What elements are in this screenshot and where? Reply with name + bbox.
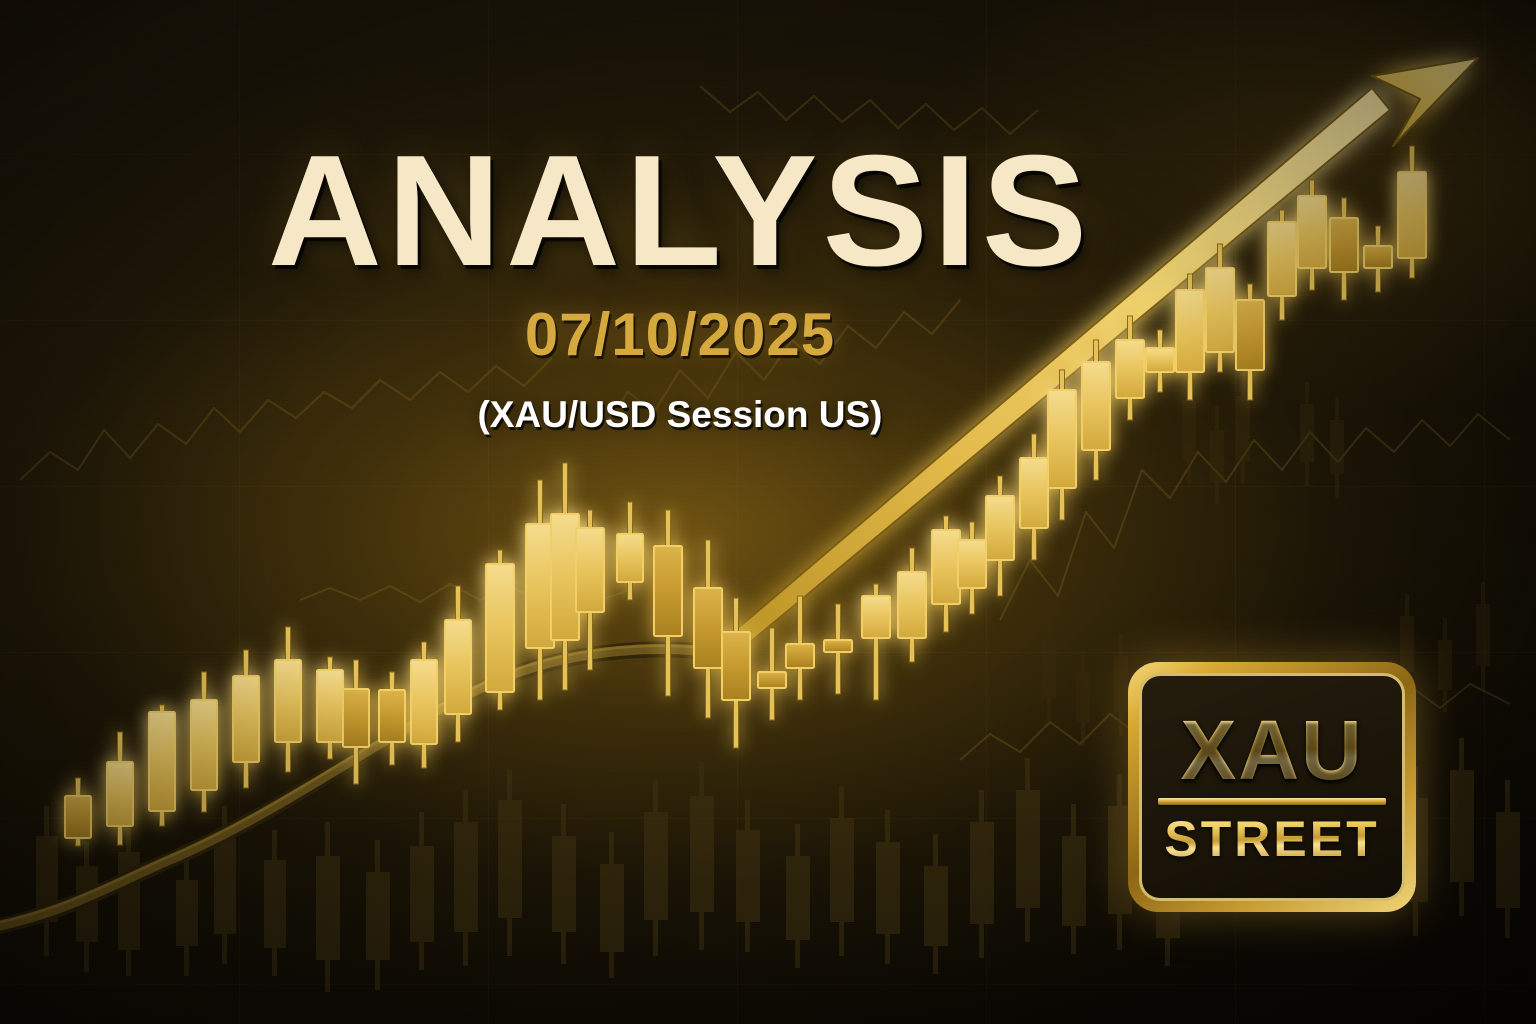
banner-canvas: ANALYSIS 07/10/2025 (XAU/USD Session US)… (0, 0, 1536, 1024)
logo-divider (1158, 798, 1386, 805)
logo-inner-frame: XAU STREET (1139, 673, 1405, 901)
logo-street-text: STREET (1164, 814, 1379, 864)
xaustreet-logo[interactable]: XAU STREET (1128, 662, 1416, 912)
logo-xau-text: XAU (1180, 710, 1363, 791)
